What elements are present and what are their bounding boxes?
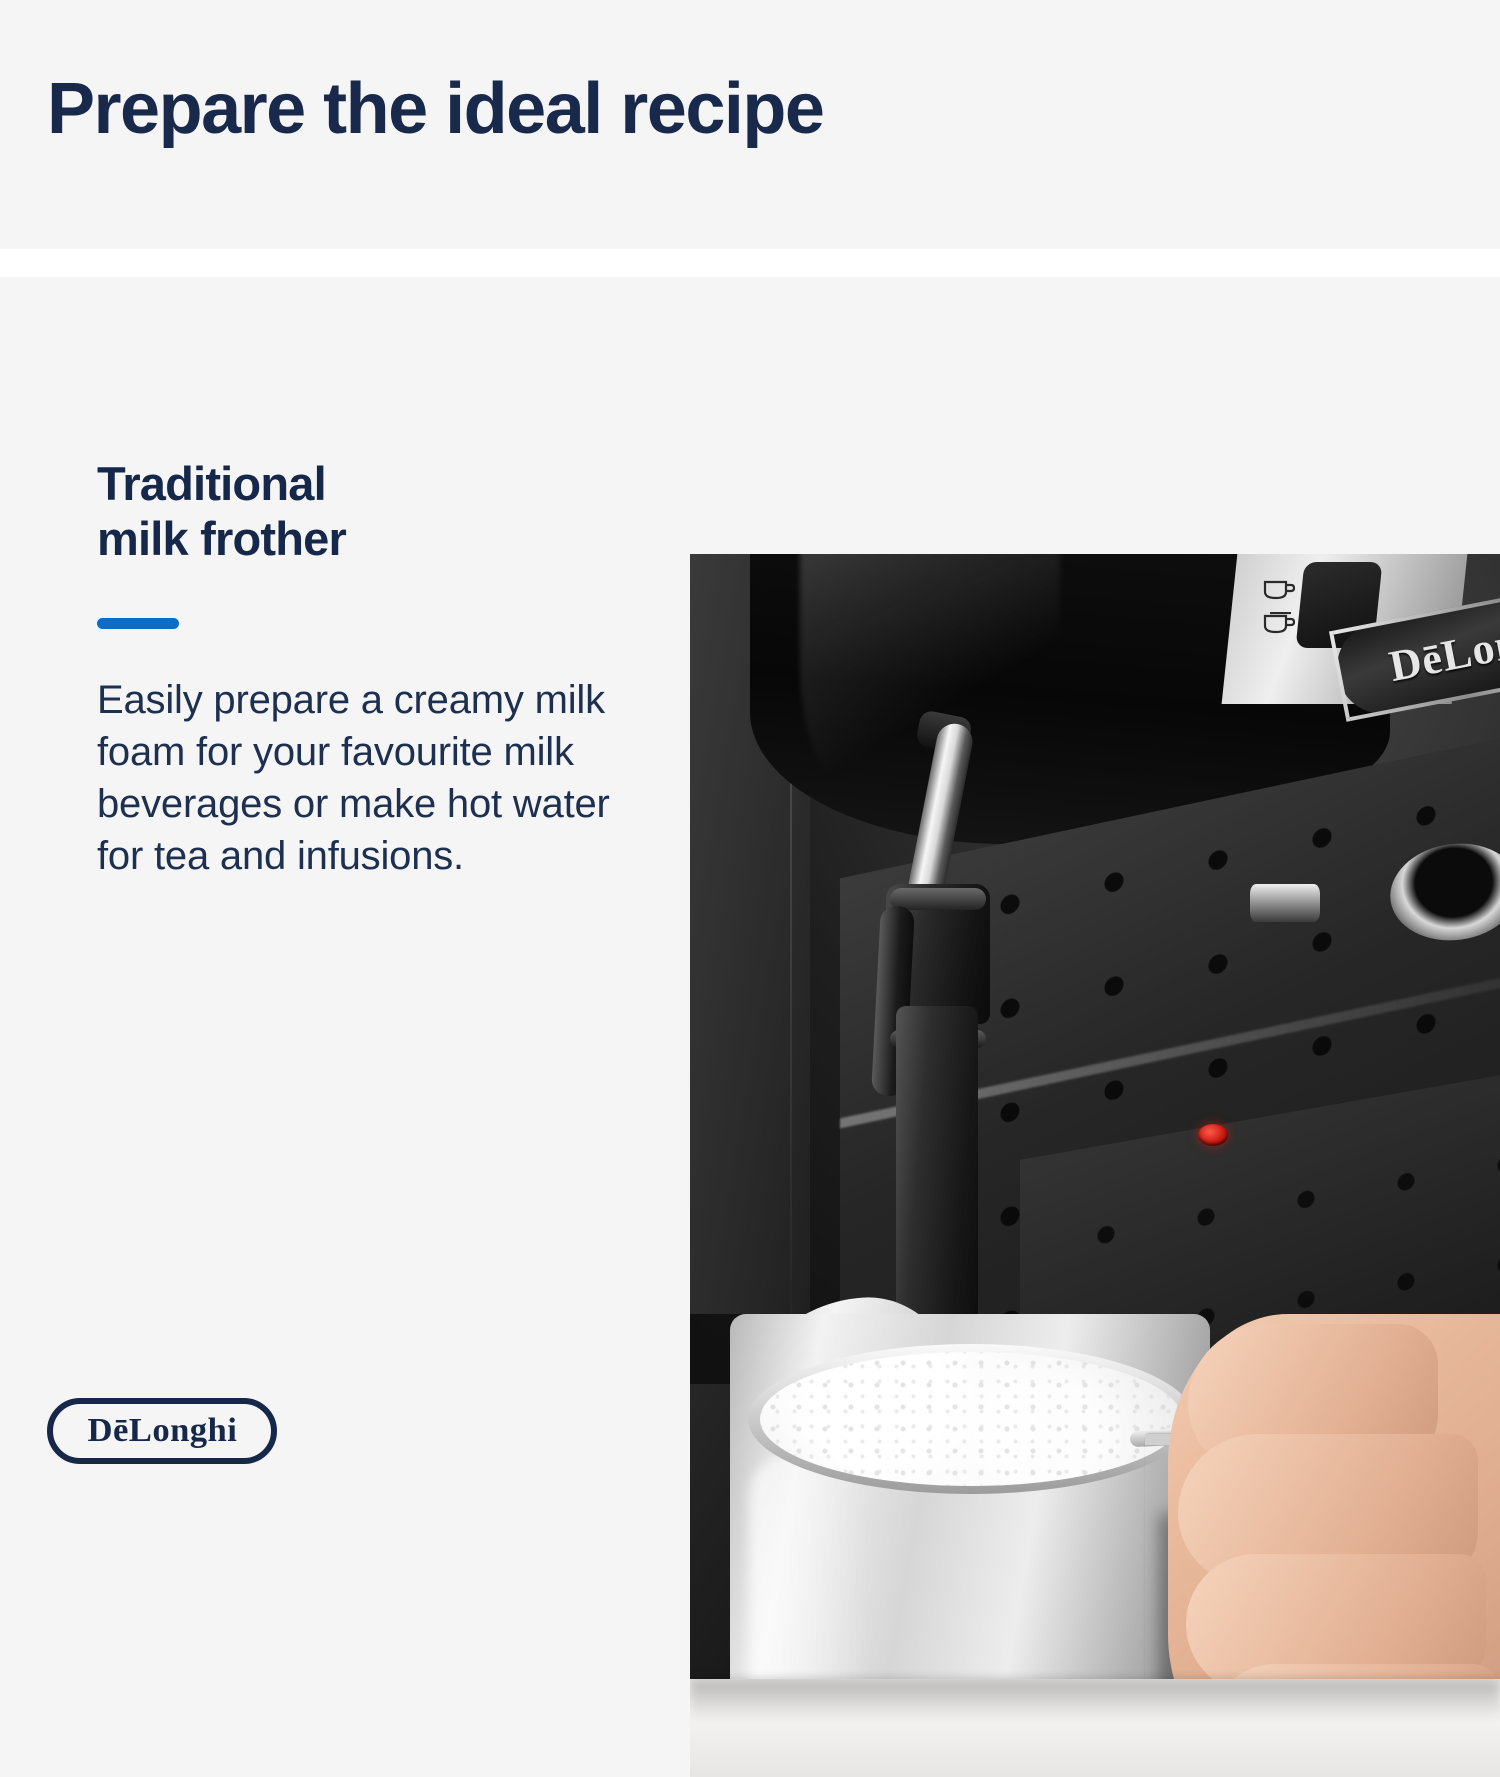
accent-rule [97, 618, 179, 629]
machine-brand-badge-text: DēLonghi [1385, 604, 1500, 691]
delonghi-logo-text: DēLonghi [87, 1414, 237, 1448]
content-area: Traditional milk frother Easily prepare … [0, 277, 1500, 1500]
page-header: Prepare the ideal recipe [0, 0, 1500, 249]
feature-subheading-line1: Traditional [97, 457, 617, 512]
indicator-light [1198, 1124, 1228, 1146]
feature-subheading: Traditional milk frother [97, 457, 617, 567]
double-cup-icon [1262, 612, 1302, 636]
header-divider [0, 249, 1500, 277]
product-photo: DēLonghi DēLonghi [690, 554, 1500, 1777]
feature-body-text: Easily prepare a creamy milk foam for yo… [97, 674, 617, 882]
feature-text-column: Traditional milk frother Easily prepare … [97, 457, 617, 882]
feature-subheading-line2: milk frother [97, 512, 617, 567]
chrome-collar [1250, 884, 1320, 922]
page-title: Prepare the ideal recipe [47, 72, 823, 148]
single-cup-icon [1262, 578, 1296, 602]
milk-foam-texture [760, 1352, 1182, 1486]
surface-shadow [690, 1679, 1500, 1719]
milk-foam [760, 1352, 1182, 1486]
delonghi-logo: DēLonghi [47, 1398, 277, 1464]
